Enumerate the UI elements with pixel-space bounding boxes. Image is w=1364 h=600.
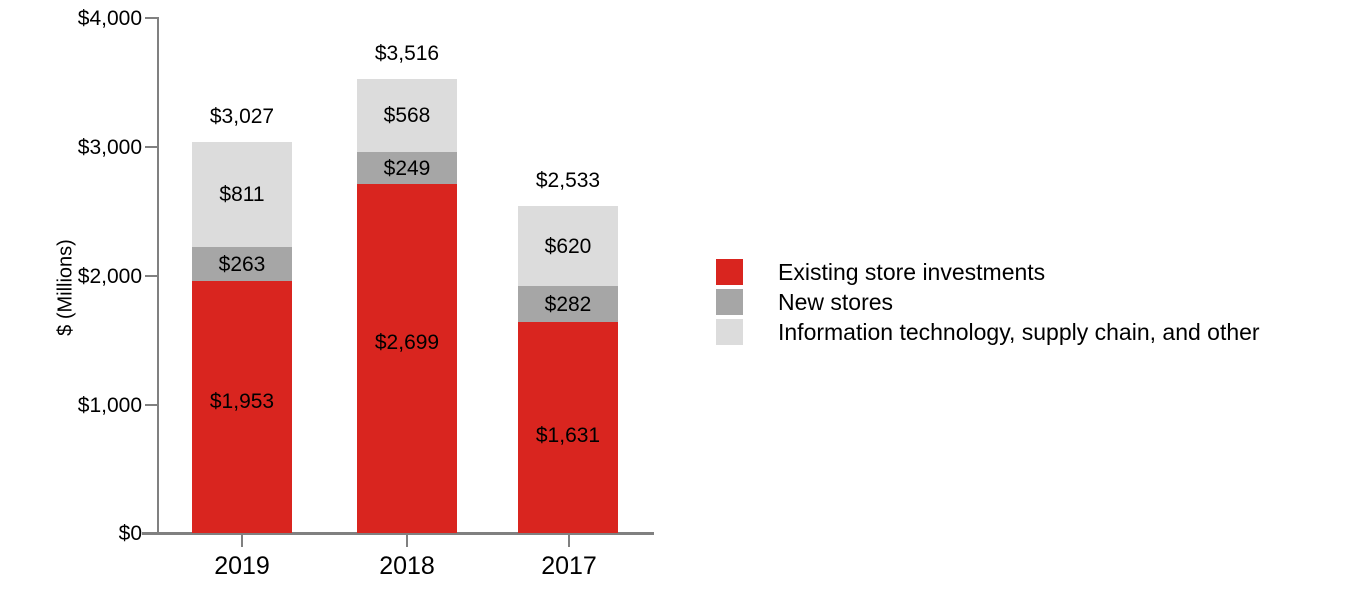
x-axis-tick-2019	[241, 535, 243, 547]
y-axis-label-3000: $3,000	[0, 137, 142, 158]
bar-total-label-2017: $2,533	[488, 170, 648, 191]
bar-group-2018[interactable]: $3,516 $568 $249 $2,699	[357, 79, 457, 533]
bar-segment-2017-new-stores[interactable]: $282	[518, 286, 618, 322]
bar-segment-label-2017-new-stores: $282	[545, 294, 592, 315]
bar-segment-label-2017-existing: $1,631	[536, 425, 600, 446]
legend: Existing store investments New stores In…	[716, 259, 1260, 349]
legend-item-new-stores[interactable]: New stores	[716, 289, 1260, 319]
legend-item-existing-store-investments[interactable]: Existing store investments	[716, 259, 1260, 289]
y-axis-tick-2000	[145, 275, 158, 277]
x-axis-label-2018: 2018	[327, 551, 487, 581]
bar-segment-label-2018-it: $568	[384, 105, 431, 126]
bar-segment-label-2019-existing: $1,953	[210, 391, 274, 412]
bar-segment-2017-existing[interactable]: $1,631	[518, 322, 618, 533]
legend-label-new-stores: New stores	[778, 289, 893, 315]
bar-segment-2019-new-stores[interactable]: $263	[192, 247, 292, 281]
y-axis-tick-1000	[145, 404, 158, 406]
x-axis-tick-2017	[568, 535, 570, 547]
bar-group-2019[interactable]: $3,027 $811 $263 $1,953	[192, 142, 292, 533]
bar-segment-2018-new-stores[interactable]: $249	[357, 152, 457, 184]
legend-swatch-existing-store-investments	[716, 259, 743, 285]
bar-segment-label-2018-existing: $2,699	[375, 332, 439, 353]
bar-segment-label-2018-new-stores: $249	[384, 158, 431, 179]
y-axis-label-1000: $1,000	[0, 395, 142, 416]
stacked-bar-chart: $ (Millions) $4,000 $3,000 $2,000 $1,000…	[0, 0, 1364, 600]
legend-swatch-information-technology	[716, 319, 743, 345]
legend-swatch-new-stores	[716, 289, 743, 315]
bar-segment-label-2019-it: $811	[219, 184, 264, 205]
legend-item-information-technology[interactable]: Information technology, supply chain, an…	[716, 319, 1260, 349]
bar-segment-2017-it[interactable]: $620	[518, 206, 618, 286]
bar-segment-2019-it[interactable]: $811	[192, 142, 292, 247]
bar-total-label-2018: $3,516	[327, 43, 487, 64]
y-axis-label-0: $0	[0, 523, 142, 544]
y-axis-tick-3000	[145, 146, 158, 148]
bar-segment-2018-it[interactable]: $568	[357, 79, 457, 152]
y-axis-title: $ (Millions)	[55, 178, 78, 398]
x-axis-tick-2018	[406, 535, 408, 547]
bar-group-2017[interactable]: $2,533 $620 $282 $1,631	[518, 206, 618, 533]
y-axis-label-4000: $4,000	[0, 8, 142, 29]
bar-total-label-2019: $3,027	[162, 106, 322, 127]
bar-segment-label-2019-new-stores: $263	[219, 254, 266, 275]
y-axis-tick-4000	[145, 17, 158, 19]
bar-segment-2019-existing[interactable]: $1,953	[192, 281, 292, 533]
x-axis-label-2017: 2017	[489, 551, 649, 581]
bar-segment-label-2017-it: $620	[545, 236, 592, 257]
x-axis-label-2019: 2019	[162, 551, 322, 581]
legend-label-existing-store-investments: Existing store investments	[778, 259, 1045, 285]
bar-segment-2018-existing[interactable]: $2,699	[357, 184, 457, 533]
y-axis-label-2000: $2,000	[0, 266, 142, 287]
legend-label-information-technology: Information technology, supply chain, an…	[778, 319, 1260, 345]
